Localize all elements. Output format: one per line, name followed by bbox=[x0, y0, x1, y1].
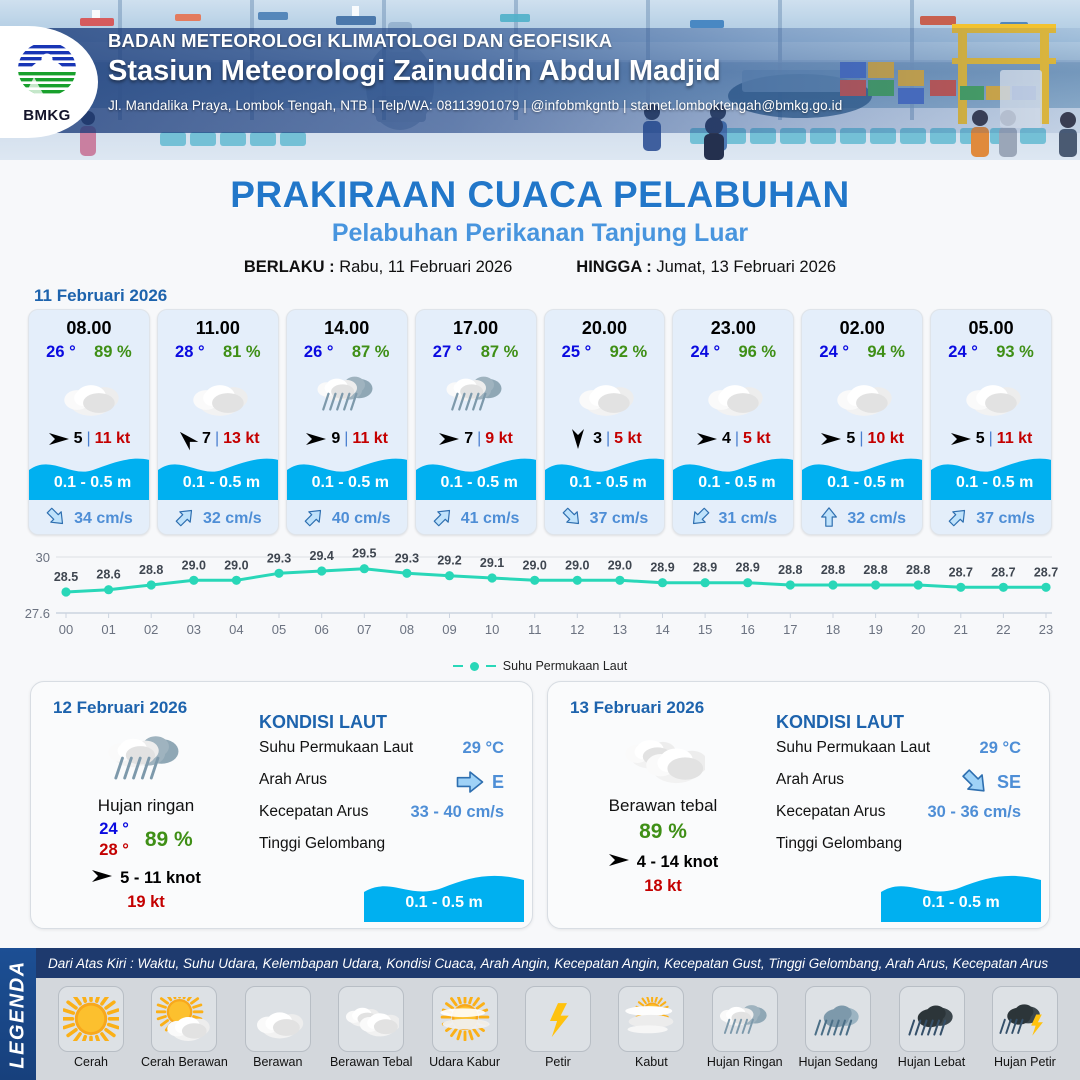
weather-icon-berawan-tebal bbox=[343, 997, 399, 1041]
svg-text:06: 06 bbox=[314, 622, 328, 637]
panel-weather-icon bbox=[558, 720, 768, 794]
card-wave: 0.1 - 0.5 m bbox=[673, 454, 793, 516]
card-wind: 7 | 13 kt bbox=[158, 424, 278, 454]
card-current-arrow bbox=[689, 506, 711, 533]
card-temperature: 28 ° bbox=[175, 343, 205, 362]
panel-current-direction: SE bbox=[960, 767, 1021, 797]
panel-wind-arrow bbox=[91, 867, 113, 890]
panel-row-value: 29 °C bbox=[980, 739, 1021, 758]
card-wind-separator: | bbox=[344, 430, 348, 448]
panel-date: 12 Februari 2026 bbox=[53, 698, 187, 718]
svg-text:11: 11 bbox=[528, 622, 542, 637]
legend-item: Cerah bbox=[46, 986, 136, 1069]
card-wind-separator: | bbox=[215, 430, 219, 448]
panel-weather-icon bbox=[41, 720, 251, 794]
legend-item: Hujan Ringan bbox=[700, 986, 790, 1069]
card-time: 02.00 bbox=[802, 310, 922, 339]
weather-icon-cerah-berawan bbox=[156, 997, 212, 1041]
svg-text:02: 02 bbox=[144, 622, 158, 637]
contact-info: Jl. Mandalika Praya, Lombok Tengah, NTB … bbox=[108, 98, 1008, 113]
wind-direction-arrow-E bbox=[608, 851, 630, 869]
svg-text:21: 21 bbox=[954, 622, 968, 637]
svg-text:09: 09 bbox=[442, 622, 456, 637]
valid-to: HINGGA : Jumat, 13 Februari 2026 bbox=[576, 258, 836, 277]
panel-wind-range: 4 - 14 knot bbox=[637, 853, 719, 872]
svg-text:29.3: 29.3 bbox=[267, 551, 291, 565]
panel-condition: Berawan tebal bbox=[558, 796, 768, 816]
card-weather-icon bbox=[545, 362, 665, 424]
card-wind-separator: | bbox=[477, 430, 481, 448]
legend-item: Kabut bbox=[606, 986, 696, 1069]
card-time: 17.00 bbox=[416, 310, 536, 339]
svg-text:29.0: 29.0 bbox=[608, 558, 632, 572]
card-temperature: 27 ° bbox=[433, 343, 463, 362]
weather-icon-berawan bbox=[250, 997, 306, 1041]
panel-date: 13 Februari 2026 bbox=[570, 698, 704, 718]
card-weather-icon bbox=[931, 362, 1051, 424]
card-weather-icon bbox=[287, 362, 407, 424]
legend-note-strip: Dari Atas Kiri : Waktu, Suhu Udara, Kele… bbox=[36, 948, 1080, 978]
card-humidity: 89 % bbox=[94, 343, 132, 362]
legend-item-icon bbox=[58, 986, 124, 1052]
card-wind: 7 | 9 kt bbox=[416, 424, 536, 454]
panel-current-direction-label: SE bbox=[997, 772, 1021, 793]
card-wave: 0.1 - 0.5 m bbox=[287, 454, 407, 516]
weather-icon-petir bbox=[530, 997, 586, 1041]
panel-current-direction: E bbox=[455, 767, 504, 797]
card-wind: 5 | 10 kt bbox=[802, 424, 922, 454]
station-name: Stasiun Meteorologi Zainuddin Abdul Madj… bbox=[108, 55, 1008, 88]
weather-icon-hujan-ringan bbox=[443, 367, 509, 418]
panel-temp-min: 24 ° bbox=[99, 820, 129, 839]
svg-text:29.0: 29.0 bbox=[565, 558, 589, 572]
panel-wind-arrow bbox=[608, 851, 630, 874]
card-wave: 0.1 - 0.5 m bbox=[545, 454, 665, 516]
weather-icon-cerah bbox=[63, 997, 119, 1041]
svg-text:29.2: 29.2 bbox=[437, 554, 461, 568]
svg-text:28.9: 28.9 bbox=[736, 561, 760, 575]
legend-item: Berawan bbox=[233, 986, 323, 1069]
svg-text:28.9: 28.9 bbox=[650, 561, 674, 575]
svg-text:28.8: 28.8 bbox=[821, 563, 845, 577]
svg-text:28.7: 28.7 bbox=[1034, 565, 1058, 579]
card-wind-arrow bbox=[696, 430, 718, 448]
hourly-card: 02.00 24 ° 94 % 5 | 10 kt 0.1 - 0.5 m bbox=[801, 309, 923, 535]
card-wind-arrow bbox=[438, 430, 460, 448]
valid-from-value: Rabu, 11 Februari 2026 bbox=[339, 258, 512, 276]
hourly-card: 17.00 27 ° 87 % 7 | 9 kt 0 bbox=[415, 309, 537, 535]
weather-icon-hujan-petir bbox=[997, 997, 1053, 1041]
svg-text:10: 10 bbox=[485, 622, 499, 637]
card-gust: 5 kt bbox=[743, 430, 771, 448]
card-temp-humidity: 25 ° 92 % bbox=[545, 339, 665, 362]
weather-icon-berawan-tebal bbox=[621, 724, 705, 790]
wind-direction-arrow-S bbox=[569, 428, 587, 450]
card-wind-speed: 7 bbox=[464, 430, 473, 448]
daily-panel: 12 Februari 2026 Hujan ringan 24 ° 28 ° … bbox=[30, 681, 533, 929]
card-current-arrow bbox=[818, 506, 840, 533]
card-time: 14.00 bbox=[287, 310, 407, 339]
svg-text:29.0: 29.0 bbox=[523, 558, 547, 572]
legend-item-icon bbox=[618, 986, 684, 1052]
card-time: 23.00 bbox=[673, 310, 793, 339]
card-current-arrow bbox=[432, 506, 454, 533]
wind-direction-arrow-E bbox=[305, 430, 327, 448]
panel-row: Arah Arus SE bbox=[776, 771, 1035, 803]
legend-item-label: Cerah bbox=[46, 1055, 136, 1069]
svg-text:15: 15 bbox=[698, 622, 712, 637]
card-temp-humidity: 24 ° 96 % bbox=[673, 339, 793, 362]
legend-item-icon bbox=[899, 986, 965, 1052]
daily-forecast-panels: 12 Februari 2026 Hujan ringan 24 ° 28 ° … bbox=[0, 673, 1080, 929]
svg-text:14: 14 bbox=[655, 622, 669, 637]
legend-item: Hujan Lebat bbox=[887, 986, 977, 1069]
card-wave-height: 0.1 - 0.5 m bbox=[158, 474, 279, 492]
panel-wave-height: 0.1 - 0.5 m bbox=[364, 894, 524, 912]
agency-name: BADAN METEOROLOGI KLIMATOLOGI DAN GEOFIS… bbox=[108, 30, 1008, 52]
card-humidity: 96 % bbox=[738, 343, 776, 362]
chart-legend-label: Suhu Permukaan Laut bbox=[503, 659, 627, 673]
legend-item: Cerah Berawan bbox=[139, 986, 229, 1069]
daily-panel: 13 Februari 2026 Berawan tebal 89 % bbox=[547, 681, 1050, 929]
card-current-arrow bbox=[561, 506, 583, 533]
weather-icon-hujan-ringan bbox=[314, 367, 380, 418]
weather-icon-udara-kabur bbox=[437, 997, 493, 1041]
weather-icon-hujan-ringan bbox=[104, 724, 188, 790]
svg-text:28.8: 28.8 bbox=[863, 563, 887, 577]
legend-item-icon bbox=[992, 986, 1058, 1052]
card-wind: 9 | 11 kt bbox=[287, 424, 407, 454]
panel-sea-title: KONDISI LAUT bbox=[259, 712, 518, 733]
legend-note: Dari Atas Kiri : Waktu, Suhu Udara, Kele… bbox=[48, 956, 1048, 971]
panel-condition: Hujan ringan bbox=[41, 796, 251, 816]
card-wind-separator: | bbox=[606, 430, 610, 448]
legend-dot-icon bbox=[470, 662, 479, 671]
card-humidity: 94 % bbox=[867, 343, 905, 362]
svg-text:01: 01 bbox=[101, 622, 115, 637]
panel-row-key: Tinggi Gelombang bbox=[776, 835, 1035, 853]
svg-text:28.7: 28.7 bbox=[991, 565, 1015, 579]
card-wind-arrow bbox=[567, 430, 589, 448]
card-wind-speed: 3 bbox=[593, 430, 602, 448]
card-weather-icon bbox=[29, 362, 149, 424]
card-wind: 5 | 11 kt bbox=[29, 424, 149, 454]
svg-text:29.0: 29.0 bbox=[224, 558, 248, 572]
panel-temp-humidity: 24 ° 28 ° 89 % bbox=[41, 820, 251, 860]
current-direction-arrow-SE bbox=[954, 761, 996, 803]
card-wave-height: 0.1 - 0.5 m bbox=[673, 474, 794, 492]
svg-text:23: 23 bbox=[1039, 622, 1053, 637]
chart-legend: Suhu Permukaan Laut bbox=[0, 659, 1080, 673]
legend-item: Hujan Sedang bbox=[793, 986, 883, 1069]
panel-row: Kecepatan Arus 30 - 36 cm/s bbox=[776, 803, 1035, 835]
card-gust: 13 kt bbox=[223, 430, 259, 448]
svg-text:08: 08 bbox=[400, 622, 414, 637]
valid-to-label: HINGGA : bbox=[576, 258, 651, 276]
card-wind-separator: | bbox=[87, 430, 91, 448]
hourly-card: 05.00 24 ° 93 % 5 | 11 kt 0.1 - 0.5 m bbox=[930, 309, 1052, 535]
card-temp-humidity: 26 ° 87 % bbox=[287, 339, 407, 362]
card-humidity: 93 % bbox=[996, 343, 1034, 362]
card-temp-humidity: 28 ° 81 % bbox=[158, 339, 278, 362]
legend-item-label: Hujan Sedang bbox=[793, 1055, 883, 1069]
card-wind-arrow bbox=[950, 430, 972, 448]
panel-temps: 24 ° 28 ° bbox=[99, 820, 129, 860]
card-wind-speed: 5 bbox=[74, 430, 83, 448]
svg-text:20: 20 bbox=[911, 622, 925, 637]
card-wave-height: 0.1 - 0.5 m bbox=[931, 474, 1052, 492]
panel-humidity: 89 % bbox=[145, 828, 193, 852]
card-wind: 5 | 11 kt bbox=[931, 424, 1051, 454]
svg-text:28.8: 28.8 bbox=[778, 563, 802, 577]
legend-item: Hujan Petir bbox=[980, 986, 1070, 1069]
card-temp-humidity: 26 ° 89 % bbox=[29, 339, 149, 362]
wind-direction-arrow-E bbox=[820, 430, 842, 448]
card-weather-icon bbox=[802, 362, 922, 424]
legend-line-icon-2 bbox=[486, 665, 496, 668]
header-text-block: BADAN METEOROLOGI KLIMATOLOGI DAN GEOFIS… bbox=[108, 30, 1008, 113]
card-wave: 0.1 - 0.5 m bbox=[931, 454, 1051, 516]
card-temperature: 26 ° bbox=[304, 343, 334, 362]
card-temp-humidity: 24 ° 94 % bbox=[802, 339, 922, 362]
wind-direction-arrow-E bbox=[950, 430, 972, 448]
svg-text:29.3: 29.3 bbox=[395, 551, 419, 565]
card-wind-arrow bbox=[176, 430, 198, 448]
card-wave-height: 0.1 - 0.5 m bbox=[545, 474, 666, 492]
panel-gust: 18 kt bbox=[558, 877, 768, 896]
card-wind-separator: | bbox=[735, 430, 739, 448]
weather-icon-berawan bbox=[571, 367, 637, 418]
panel-humidity: 89 % bbox=[639, 820, 687, 844]
panel-wind: 5 - 11 knot bbox=[41, 867, 251, 890]
panel-row: Arah Arus E bbox=[259, 771, 518, 803]
validity-row: BERLAKU : Rabu, 11 Februari 2026 HINGGA … bbox=[0, 258, 1080, 277]
card-current-arrow bbox=[174, 506, 196, 533]
panel-row-value: 29 °C bbox=[463, 739, 504, 758]
wind-direction-arrow-E bbox=[91, 867, 113, 885]
svg-text:29.4: 29.4 bbox=[310, 549, 334, 563]
panel-row-key: Tinggi Gelombang bbox=[259, 835, 518, 853]
svg-text:28.9: 28.9 bbox=[693, 561, 717, 575]
wind-direction-arrow-E bbox=[696, 430, 718, 448]
hourly-card: 23.00 24 ° 96 % 4 | 5 kt 0.1 - 0.5 m bbox=[672, 309, 794, 535]
panel-sea-title: KONDISI LAUT bbox=[776, 712, 1035, 733]
panel-row: Kecepatan Arus 33 - 40 cm/s bbox=[259, 803, 518, 835]
card-wind-speed: 5 bbox=[976, 430, 985, 448]
legend-item-icon bbox=[525, 986, 591, 1052]
hourly-card: 14.00 26 ° 87 % 9 | 11 kt bbox=[286, 309, 408, 535]
panel-row: Tinggi Gelombang bbox=[776, 835, 1035, 867]
legend-tab: LEGENDA bbox=[0, 948, 36, 1080]
svg-text:29.0: 29.0 bbox=[182, 558, 206, 572]
sst-chart: 3027.628.50028.60128.80229.00329.00429.3… bbox=[0, 543, 1080, 658]
panel-wave-height: 0.1 - 0.5 m bbox=[881, 894, 1041, 912]
svg-text:27.6: 27.6 bbox=[25, 606, 50, 621]
svg-text:05: 05 bbox=[272, 622, 286, 637]
svg-text:12: 12 bbox=[570, 622, 584, 637]
svg-text:00: 00 bbox=[59, 622, 73, 637]
legend-item-label: Kabut bbox=[606, 1055, 696, 1069]
card-wind-speed: 4 bbox=[722, 430, 731, 448]
panel-row: Tinggi Gelombang bbox=[259, 835, 518, 867]
card-humidity: 87 % bbox=[352, 343, 390, 362]
valid-from: BERLAKU : Rabu, 11 Februari 2026 bbox=[244, 258, 512, 277]
hourly-forecast-cards: 08.00 26 ° 89 % 5 | 11 kt 0.1 - 0.5 m bbox=[0, 309, 1080, 535]
svg-text:19: 19 bbox=[868, 622, 882, 637]
panel-weather-summary: Hujan ringan 24 ° 28 ° 89 % 5 - 11 knot … bbox=[41, 720, 251, 912]
card-wind-separator: | bbox=[859, 430, 863, 448]
legend-item-label: Hujan Petir bbox=[980, 1055, 1070, 1069]
legend-item: Udara Kabur bbox=[420, 986, 510, 1069]
card-time: 20.00 bbox=[545, 310, 665, 339]
bmkg-logo-text: BMKG bbox=[10, 107, 84, 124]
card-wind-speed: 7 bbox=[202, 430, 211, 448]
page-subtitle: Pelabuhan Perikanan Tanjung Luar bbox=[0, 219, 1080, 248]
svg-text:28.7: 28.7 bbox=[949, 565, 973, 579]
svg-text:28.5: 28.5 bbox=[54, 570, 78, 584]
card-time: 08.00 bbox=[29, 310, 149, 339]
valid-from-label: BERLAKU : bbox=[244, 258, 335, 276]
svg-text:29.5: 29.5 bbox=[352, 547, 376, 561]
legend-tab-label: LEGENDA bbox=[7, 960, 30, 1068]
card-gust: 10 kt bbox=[867, 430, 903, 448]
panel-sea-conditions: KONDISI LAUT Suhu Permukaan Laut 29 °C A… bbox=[776, 712, 1035, 867]
legend-item-icon bbox=[712, 986, 778, 1052]
card-wind-arrow bbox=[820, 430, 842, 448]
card-temperature: 24 ° bbox=[948, 343, 978, 362]
svg-text:30: 30 bbox=[36, 550, 50, 565]
card-current-arrow bbox=[947, 506, 969, 533]
card-gust: 5 kt bbox=[614, 430, 642, 448]
card-wind-arrow bbox=[305, 430, 327, 448]
card-wave-height: 0.1 - 0.5 m bbox=[287, 474, 408, 492]
svg-text:16: 16 bbox=[740, 622, 754, 637]
legend-item-icon bbox=[151, 986, 217, 1052]
card-temp-humidity: 27 ° 87 % bbox=[416, 339, 536, 362]
svg-text:29.1: 29.1 bbox=[480, 556, 504, 570]
card-temp-humidity: 24 ° 93 % bbox=[931, 339, 1051, 362]
svg-text:28.8: 28.8 bbox=[139, 563, 163, 577]
card-wave-height: 0.1 - 0.5 m bbox=[29, 474, 150, 492]
hourly-card: 11.00 28 ° 81 % 7 | 13 kt 0.1 - 0.5 m bbox=[157, 309, 279, 535]
weather-icon-berawan bbox=[829, 367, 895, 418]
weather-icon-berawan bbox=[700, 367, 766, 418]
panel-sea-conditions: KONDISI LAUT Suhu Permukaan Laut 29 °C A… bbox=[259, 712, 518, 867]
card-humidity: 87 % bbox=[481, 343, 519, 362]
card-wind-arrow bbox=[48, 430, 70, 448]
legend-item-icon bbox=[805, 986, 871, 1052]
svg-text:18: 18 bbox=[826, 622, 840, 637]
panel-gust: 19 kt bbox=[41, 893, 251, 912]
svg-text:07: 07 bbox=[357, 622, 371, 637]
weather-icon-hujan-ringan bbox=[717, 997, 773, 1041]
card-weather-icon bbox=[158, 362, 278, 424]
card-wave: 0.1 - 0.5 m bbox=[29, 454, 149, 516]
title-section: PRAKIRAAN CUACA PELABUHAN Pelabuhan Peri… bbox=[0, 160, 1080, 277]
panel-temp-max: 28 ° bbox=[99, 841, 129, 860]
wind-direction-arrow-E bbox=[438, 430, 460, 448]
legend-item-icon bbox=[338, 986, 404, 1052]
card-temperature: 26 ° bbox=[46, 343, 76, 362]
svg-text:13: 13 bbox=[613, 622, 627, 637]
hourly-date-label: 11 Februari 2026 bbox=[34, 286, 1080, 306]
card-wave: 0.1 - 0.5 m bbox=[416, 454, 536, 516]
card-wave: 0.1 - 0.5 m bbox=[158, 454, 278, 516]
bmkg-logo-icon bbox=[14, 41, 80, 101]
card-temperature: 24 ° bbox=[691, 343, 721, 362]
card-current-arrow bbox=[303, 506, 325, 533]
weather-icon-berawan bbox=[56, 367, 122, 418]
svg-text:28.6: 28.6 bbox=[96, 568, 120, 582]
card-humidity: 81 % bbox=[223, 343, 261, 362]
card-wave-height: 0.1 - 0.5 m bbox=[416, 474, 537, 492]
card-weather-icon bbox=[673, 362, 793, 424]
wind-direction-arrow-NW bbox=[173, 425, 201, 453]
current-direction-arrow-N bbox=[818, 506, 840, 528]
page-title: PRAKIRAAN CUACA PELABUHAN bbox=[0, 174, 1080, 216]
card-gust: 11 kt bbox=[352, 430, 388, 448]
panel-row-value: 30 - 36 cm/s bbox=[927, 803, 1021, 822]
legend-section: LEGENDA Dari Atas Kiri : Waktu, Suhu Uda… bbox=[0, 948, 1080, 1080]
svg-text:04: 04 bbox=[229, 622, 243, 637]
hourly-card: 08.00 26 ° 89 % 5 | 11 kt 0.1 - 0.5 m bbox=[28, 309, 150, 535]
card-temperature: 24 ° bbox=[819, 343, 849, 362]
legend-item-list: Cerah Cerah Berawan Berawan bbox=[36, 978, 1080, 1080]
wind-direction-arrow-E bbox=[48, 430, 70, 448]
card-temperature: 25 ° bbox=[562, 343, 592, 362]
card-wind: 3 | 5 kt bbox=[545, 424, 665, 454]
weather-icon-berawan bbox=[958, 367, 1024, 418]
legend-item: Petir bbox=[513, 986, 603, 1069]
hourly-card: 20.00 25 ° 92 % 3 | 5 kt 0.1 - 0.5 m bbox=[544, 309, 666, 535]
legend-item-label: Hujan Ringan bbox=[700, 1055, 790, 1069]
valid-to-value: Jumat, 13 Februari 2026 bbox=[656, 258, 836, 276]
panel-weather-summary: Berawan tebal 89 % 4 - 14 knot 18 kt bbox=[558, 720, 768, 896]
weather-icon-kabut bbox=[623, 997, 679, 1041]
card-wind-speed: 5 bbox=[846, 430, 855, 448]
panel-row-value: 33 - 40 cm/s bbox=[410, 803, 504, 822]
card-wind-speed: 9 bbox=[331, 430, 340, 448]
panel-temp-humidity: 89 % bbox=[558, 820, 768, 844]
svg-text:22: 22 bbox=[996, 622, 1010, 637]
legend-item-label: Berawan bbox=[233, 1055, 323, 1069]
weather-icon-hujan-lebat bbox=[904, 997, 960, 1041]
legend-item-icon bbox=[432, 986, 498, 1052]
svg-text:28.8: 28.8 bbox=[906, 563, 930, 577]
card-current-arrow bbox=[45, 506, 67, 533]
legend-item-label: Berawan Tebal bbox=[326, 1055, 416, 1069]
card-gust: 9 kt bbox=[485, 430, 513, 448]
card-humidity: 92 % bbox=[610, 343, 648, 362]
bmkg-logo: BMKG bbox=[0, 26, 98, 138]
weather-icon-berawan bbox=[185, 367, 251, 418]
card-gust: 11 kt bbox=[95, 430, 131, 448]
legend-item-icon bbox=[245, 986, 311, 1052]
card-gust: 11 kt bbox=[997, 430, 1033, 448]
panel-wind: 4 - 14 knot bbox=[558, 851, 768, 874]
card-wave-height: 0.1 - 0.5 m bbox=[802, 474, 923, 492]
weather-icon-hujan-sedang bbox=[810, 997, 866, 1041]
legend-item-label: Udara Kabur bbox=[420, 1055, 510, 1069]
card-wind: 4 | 5 kt bbox=[673, 424, 793, 454]
legend-item-label: Hujan Lebat bbox=[887, 1055, 977, 1069]
svg-text:03: 03 bbox=[187, 622, 201, 637]
svg-text:17: 17 bbox=[783, 622, 797, 637]
panel-wind-range: 5 - 11 knot bbox=[120, 869, 201, 888]
legend-item-label: Petir bbox=[513, 1055, 603, 1069]
legend-line-icon bbox=[453, 665, 463, 668]
card-weather-icon bbox=[416, 362, 536, 424]
